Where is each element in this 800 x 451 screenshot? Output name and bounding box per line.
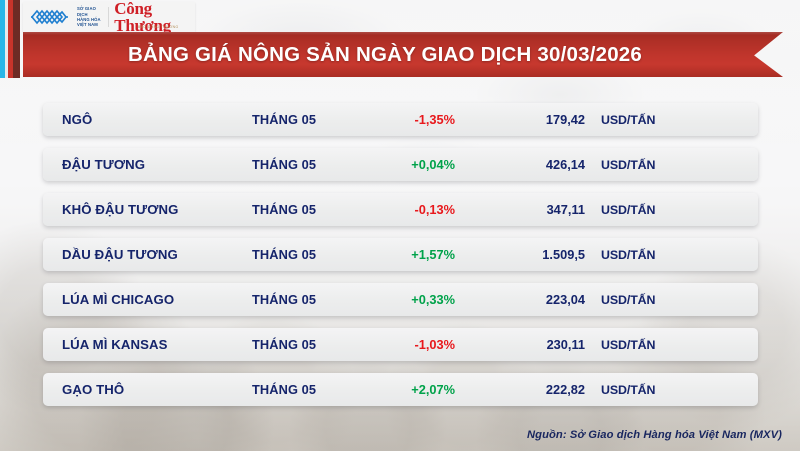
commodity-name: LÚA MÌ CHICAGO <box>62 292 174 307</box>
commodity-name: NGÔ <box>62 112 92 127</box>
source-attribution: Nguồn: Sở Giao dịch Hàng hóa Việt Nam (M… <box>527 429 782 441</box>
price-board-infographic: SỞ GIAO DỊCH HÀNG HÓA VIỆT NAM Công Thươ… <box>0 0 800 451</box>
commodity-name: DẦU ĐẬU TƯƠNG <box>62 247 178 262</box>
mxv-wave-logo-icon <box>29 6 73 28</box>
contract-month: THÁNG 05 <box>252 157 316 172</box>
commodity-name: GẠO THÔ <box>62 382 124 397</box>
price-unit: USD/TẤN <box>601 293 655 307</box>
price-change-pct: +2,07% <box>335 382 455 397</box>
table-row: DẦU ĐẬU TƯƠNGTHÁNG 05+1,57%1.509,5USD/TẤ… <box>43 238 758 271</box>
table-row: LÚA MÌ KANSASTHÁNG 05-1,03%230,11USD/TẤN <box>43 328 758 361</box>
table-row: LÚA MÌ CHICAGOTHÁNG 05+0,33%223,04USD/TẤ… <box>43 283 758 316</box>
contract-month: THÁNG 05 <box>252 247 316 262</box>
price-change-pct: +0,04% <box>335 157 455 172</box>
price-change-pct: +1,57% <box>335 247 455 262</box>
price-value: 179,42 <box>465 112 585 127</box>
congthuong-logo-sublabel: BÁO CÔNG THƯƠNG <box>138 25 179 29</box>
commodity-name: ĐẬU TƯƠNG <box>62 157 145 172</box>
price-value: 230,11 <box>465 337 585 352</box>
price-value: 1.509,5 <box>465 247 585 262</box>
price-change-pct: -1,35% <box>335 112 455 127</box>
logo-divider <box>108 7 109 27</box>
price-unit: USD/TẤN <box>601 158 655 172</box>
price-value: 223,04 <box>465 292 585 307</box>
price-unit: USD/TẤN <box>601 113 655 127</box>
price-unit: USD/TẤN <box>601 203 655 217</box>
contract-month: THÁNG 05 <box>252 382 316 397</box>
mxv-logo-label: SỞ GIAO DỊCH HÀNG HÓA VIỆT NAM <box>77 6 102 28</box>
price-value: 426,14 <box>465 157 585 172</box>
price-change-pct: -0,13% <box>335 202 455 217</box>
price-change-pct: +0,33% <box>335 292 455 307</box>
table-row: NGÔTHÁNG 05-1,35%179,42USD/TẤN <box>43 103 758 136</box>
price-unit: USD/TẤN <box>601 248 655 262</box>
contract-month: THÁNG 05 <box>252 202 316 217</box>
price-unit: USD/TẤN <box>601 338 655 352</box>
price-change-pct: -1,03% <box>335 337 455 352</box>
accent-bar-maroon <box>13 0 20 78</box>
price-unit: USD/TẤN <box>601 383 655 397</box>
price-value: 347,11 <box>465 202 585 217</box>
commodity-name: KHÔ ĐẬU TƯƠNG <box>62 202 179 217</box>
table-row: GẠO THÔTHÁNG 05+2,07%222,82USD/TẤN <box>43 373 758 406</box>
price-value: 222,82 <box>465 382 585 397</box>
commodity-name: LÚA MÌ KANSAS <box>62 337 168 352</box>
contract-month: THÁNG 05 <box>252 292 316 307</box>
logo-strip: SỞ GIAO DỊCH HÀNG HÓA VIỆT NAM Công Thươ… <box>23 2 195 32</box>
contract-month: THÁNG 05 <box>252 112 316 127</box>
title-banner: BẢNG GIÁ NÔNG SẢN NGÀY GIAO DỊCH 30/03/2… <box>23 32 783 77</box>
contract-month: THÁNG 05 <box>252 337 316 352</box>
table-row: ĐẬU TƯƠNGTHÁNG 05+0,04%426,14USD/TẤN <box>43 148 758 181</box>
table-row: KHÔ ĐẬU TƯƠNGTHÁNG 05-0,13%347,11USD/TẤN <box>43 193 758 226</box>
price-table: NGÔTHÁNG 05-1,35%179,42USD/TẤNĐẬU TƯƠNGT… <box>43 103 758 406</box>
page-title: BẢNG GIÁ NÔNG SẢN NGÀY GIAO DỊCH 30/03/2… <box>128 43 678 67</box>
left-accent-bars <box>0 0 20 78</box>
